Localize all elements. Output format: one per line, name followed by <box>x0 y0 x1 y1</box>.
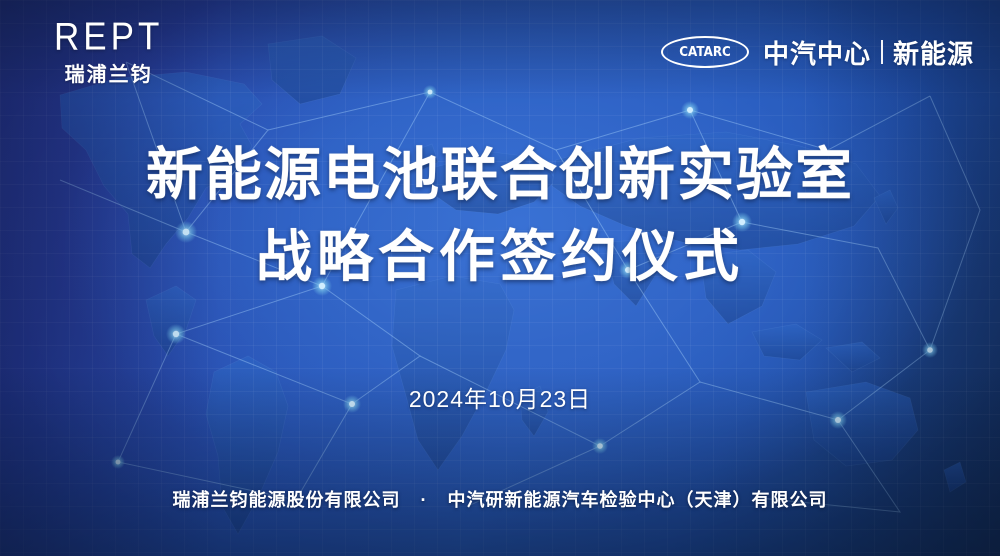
organization-right: 中汽研新能源汽车检验中心（天津）有限公司 <box>448 490 828 510</box>
organization-separator: · <box>407 490 442 511</box>
catarc-badge-text: CATARC <box>679 45 731 60</box>
catarc-segment-label: 新能源 <box>893 34 974 71</box>
rept-chinese-name: 瑞浦兰钧 <box>65 65 153 85</box>
event-date: 2024年10月23日 <box>0 380 1000 414</box>
rept-logo: REPT 瑞浦兰钧 <box>54 19 163 85</box>
catarc-chinese-block: 中汽中心 新能源 <box>763 34 974 71</box>
organization-left: 瑞浦兰钧能源股份有限公司 <box>172 490 400 510</box>
catarc-logo: CATARC 中汽中心 新能源 <box>661 34 974 71</box>
logo-divider <box>881 40 883 64</box>
catarc-chinese-name: 中汽中心 <box>763 34 871 71</box>
banner-header: REPT 瑞浦兰钧 CATARC 中汽中心 新能源 <box>0 0 1000 104</box>
organizations-footer: 瑞浦兰钧能源股份有限公司 · 中汽研新能源汽车检验中心（天津）有限公司 <box>0 486 1000 512</box>
title-block: 新能源电池联合创新实验室 战略合作签约仪式 <box>0 134 1000 298</box>
rept-wordmark: REPT <box>54 17 163 56</box>
catarc-oval-badge-icon: CATARC <box>661 36 749 68</box>
title-line-1: 新能源电池联合创新实验室 <box>0 134 1000 216</box>
event-banner: REPT 瑞浦兰钧 CATARC 中汽中心 新能源 新能源电池联合创新实验室 战… <box>0 0 1000 556</box>
title-line-2: 战略合作签约仪式 <box>0 216 1000 298</box>
